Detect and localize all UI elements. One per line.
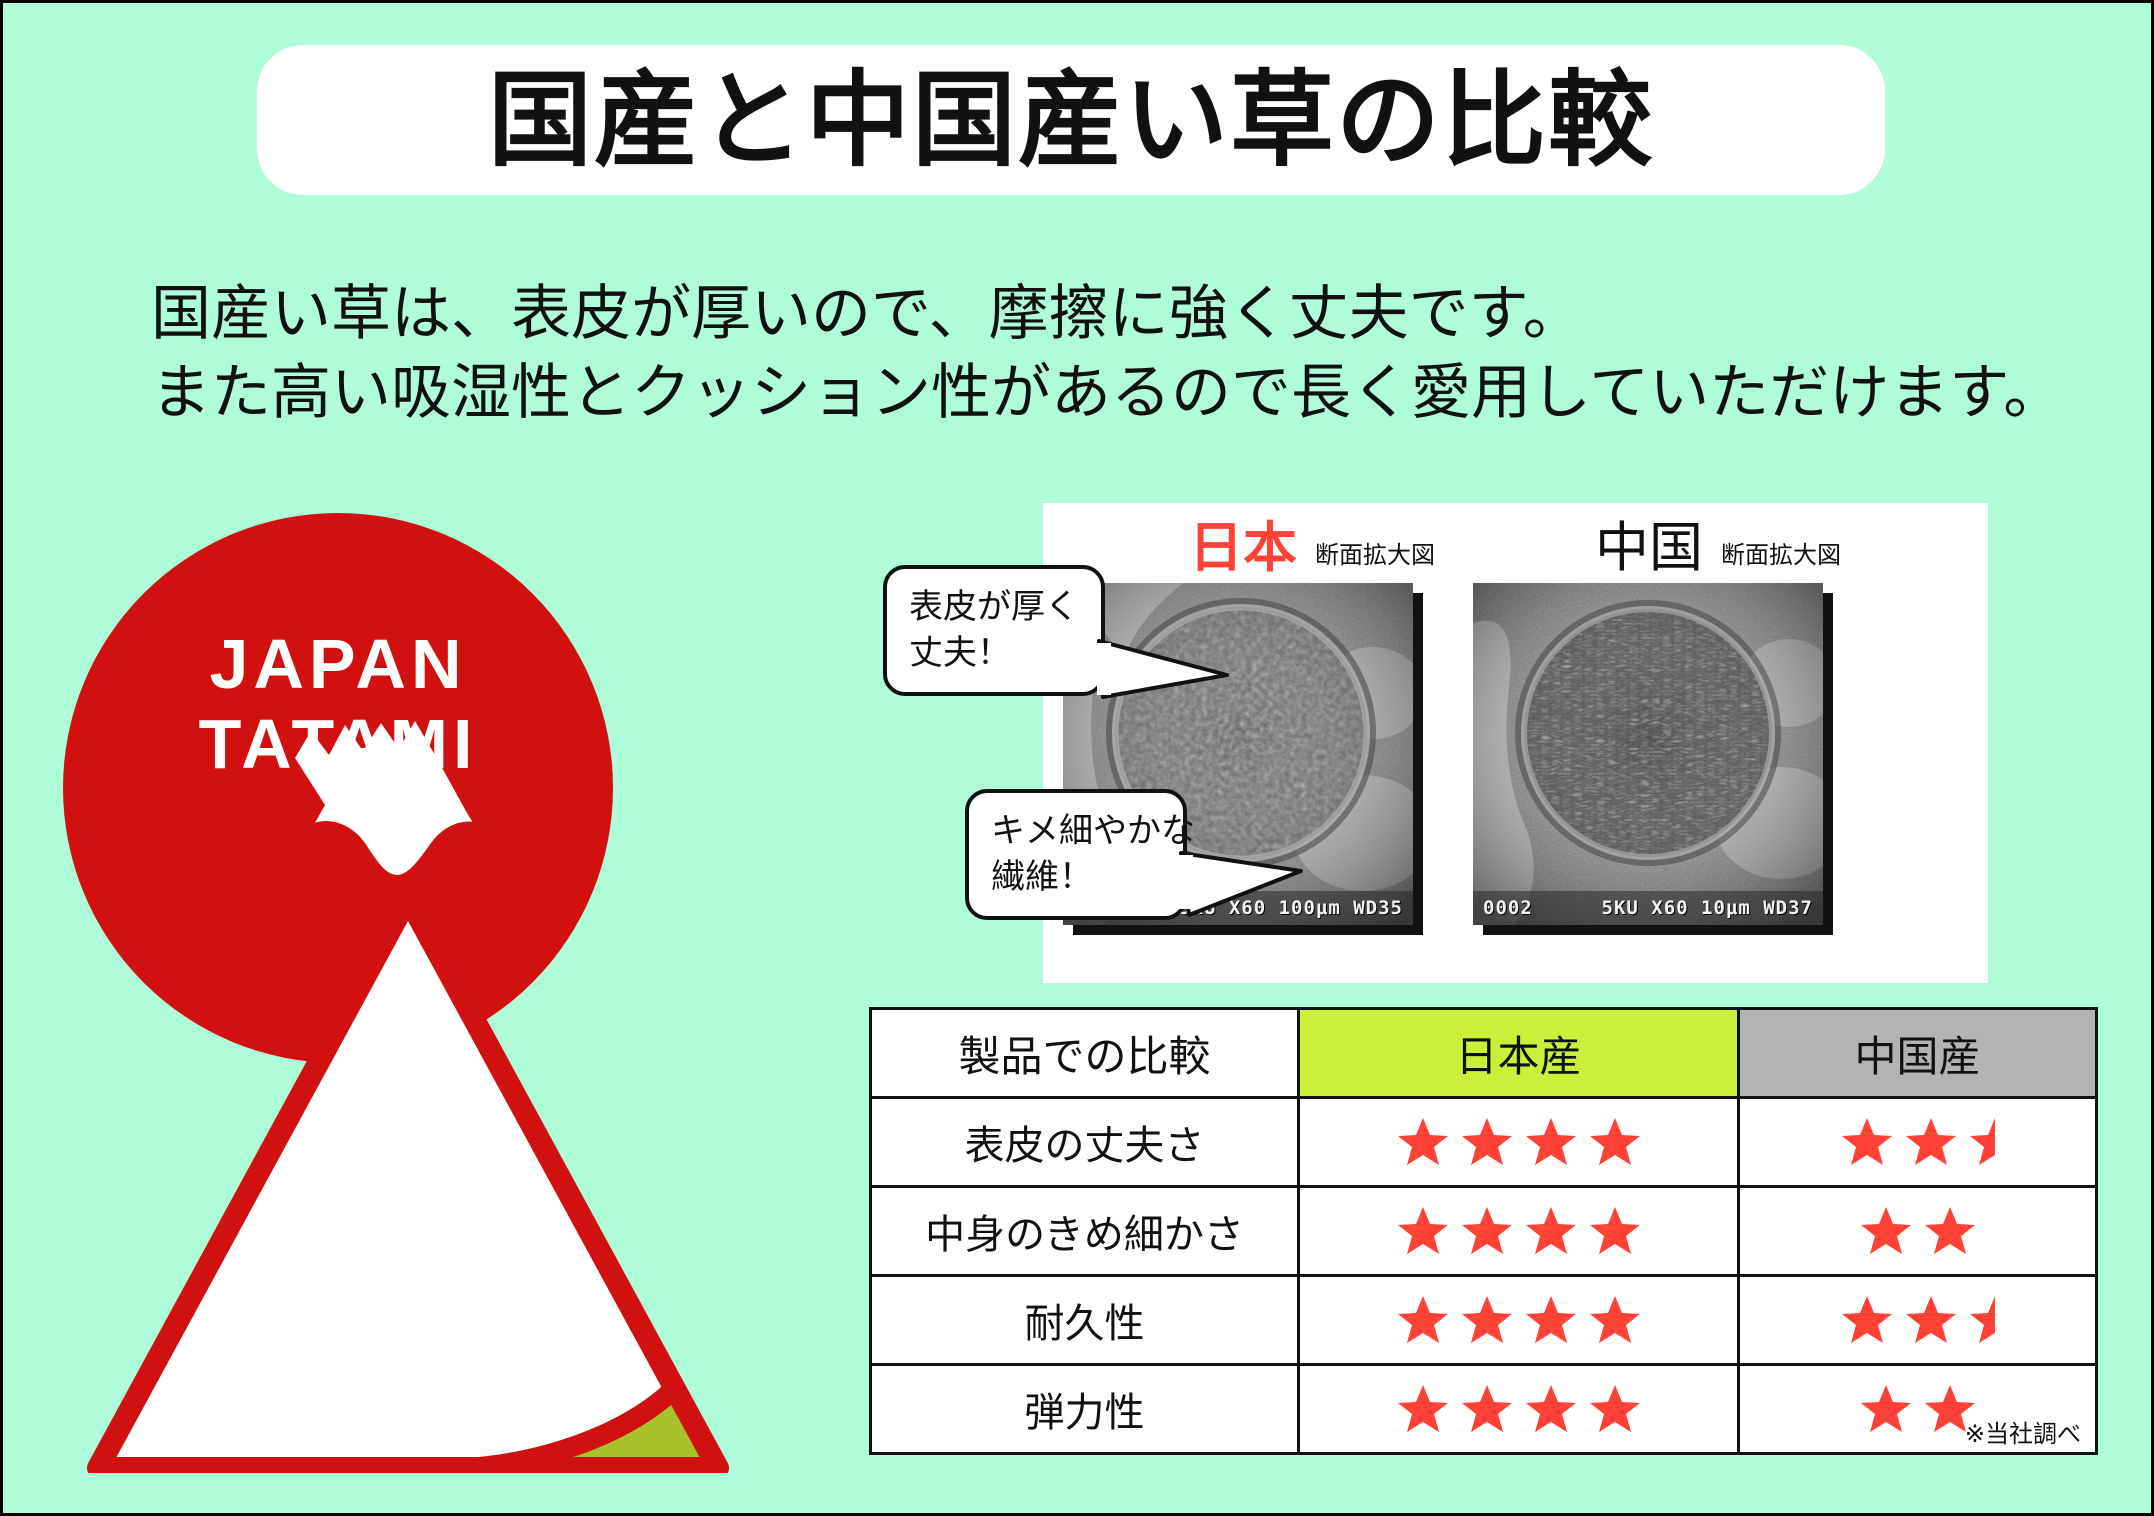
row-label-cell: 中身のきめ細かさ (871, 1187, 1299, 1276)
star-full-icon (1588, 1204, 1642, 1258)
star-full-icon (1396, 1115, 1450, 1169)
row-label-text: 耐久性 (1025, 1301, 1145, 1347)
japan-country-label: 日本 (1189, 521, 1297, 575)
star-full-icon (1859, 1382, 1913, 1436)
table-row: 耐久性 (871, 1276, 2097, 1365)
callout-fiber-tail (1179, 849, 1309, 921)
star-full-icon (1840, 1293, 1894, 1347)
row-label-text: 中身のきめ細かさ (925, 1212, 1244, 1258)
row-label-text: 弾力性 (1025, 1390, 1145, 1436)
china-sem-parameters: 5KU X60 10μm WD37 (1602, 897, 1813, 919)
star-full-icon (1904, 1115, 1958, 1169)
star-full-icon (1588, 1115, 1642, 1169)
row-japan-rating-cell (1299, 1187, 1739, 1276)
header-cell-criteria: 製品での比較 (871, 1009, 1299, 1098)
comparison-table: 製品での比較 日本産 中国産 表皮の丈夫さ中身のきめ細かさ耐久性弾力性 (869, 1007, 2098, 1455)
star-full-icon (1460, 1115, 1514, 1169)
title-plaque: 国産と中国産い草の比較 (257, 45, 1885, 195)
star-half-icon (1968, 1293, 1995, 1347)
infographic-poster: 国産と中国産い草の比較 国産い草は、表皮が厚いので、摩擦に強く丈夫です。 また高… (0, 0, 2154, 1516)
row-label-cell: 耐久性 (871, 1276, 1299, 1365)
row-china-rating-cell (1739, 1187, 2097, 1276)
star-rating (1740, 1277, 2095, 1363)
china-sem-micrograph: 0002 5KU X60 10μm WD37 (1473, 583, 1823, 925)
star-full-icon (1923, 1204, 1977, 1258)
callout-fiber: キメ細やかな 繊維！ (965, 789, 1187, 920)
star-full-icon (1396, 1204, 1450, 1258)
row-china-rating-cell (1739, 1276, 2097, 1365)
callout-epidermis-line-1: 表皮が厚く (909, 585, 1079, 631)
row-japan-rating-cell (1299, 1098, 1739, 1187)
callout-epidermis-tail (1097, 639, 1237, 709)
row-japan-rating-cell (1299, 1365, 1739, 1454)
row-japan-rating-cell (1299, 1276, 1739, 1365)
header-cell-japan: 日本産 (1299, 1009, 1739, 1098)
star-full-icon (1460, 1293, 1514, 1347)
table-header-row: 製品での比較 日本産 中国産 (871, 1009, 2097, 1098)
star-full-icon (1460, 1204, 1514, 1258)
lead-line-2: また高い吸湿性とクッション性があるので長く愛用していただけます。 (151, 354, 2111, 433)
callout-fiber-line-2: 繊維！ (991, 855, 1161, 901)
star-full-icon (1460, 1382, 1514, 1436)
star-full-icon (1588, 1293, 1642, 1347)
star-full-icon (1524, 1382, 1578, 1436)
star-full-icon (1840, 1115, 1894, 1169)
star-rating (1300, 1099, 1737, 1185)
row-label-cell: 弾力性 (871, 1365, 1299, 1454)
japan-photo-header: 日本 断面拡大図 (1189, 513, 1435, 575)
header-china-label: 中国産 (1854, 1032, 1980, 1081)
japan-tatami-emblem: JAPAN TATAMI (63, 493, 823, 1473)
header-japan-label: 日本産 (1455, 1032, 1581, 1081)
table-row: 表皮の丈夫さ (871, 1098, 2097, 1187)
row-label-cell: 表皮の丈夫さ (871, 1098, 1299, 1187)
china-cross-section-caption: 断面拡大図 (1721, 535, 1841, 575)
callout-fiber-line-1: キメ細やかな (991, 809, 1161, 855)
star-full-icon (1396, 1293, 1450, 1347)
header-cell-china: 中国産 (1739, 1009, 2097, 1098)
china-sem-data-strip: 0002 5KU X60 10μm WD37 (1473, 891, 1823, 925)
star-rating (1740, 1099, 2095, 1185)
callout-epidermis: 表皮が厚く 丈夫！ (883, 565, 1105, 696)
china-sem-frame-number: 0002 (1483, 897, 1533, 919)
mount-fuji-illustration (63, 493, 823, 1473)
star-full-icon (1524, 1204, 1578, 1258)
star-full-icon (1859, 1204, 1913, 1258)
callout-epidermis-line-2: 丈夫！ (909, 631, 1079, 677)
china-photo-header: 中国 断面拡大図 (1595, 513, 1841, 575)
star-full-icon (1524, 1293, 1578, 1347)
star-rating (1300, 1277, 1737, 1363)
star-full-icon (1588, 1382, 1642, 1436)
header-criteria-label: 製品での比較 (958, 1032, 1210, 1081)
star-full-icon (1524, 1115, 1578, 1169)
japan-cross-section-caption: 断面拡大図 (1315, 535, 1435, 575)
table-body: 表皮の丈夫さ中身のきめ細かさ耐久性弾力性 (871, 1098, 2097, 1454)
china-country-label: 中国 (1595, 521, 1703, 575)
star-full-icon (1396, 1382, 1450, 1436)
table-row: 弾力性 (871, 1365, 2097, 1454)
comparison-table-wrap: 製品での比較 日本産 中国産 表皮の丈夫さ中身のきめ細かさ耐久性弾力性 ※当社調… (869, 1007, 2095, 1455)
star-half-icon (1968, 1115, 1995, 1169)
lead-line-1: 国産い草は、表皮が厚いので、摩擦に強く丈夫です。 (151, 275, 2111, 354)
star-rating (1740, 1188, 2095, 1274)
row-label-text: 表皮の丈夫さ (965, 1123, 1205, 1169)
table-footnote: ※当社調べ (1965, 1414, 2081, 1449)
star-rating (1300, 1366, 1737, 1452)
lead-paragraph: 国産い草は、表皮が厚いので、摩擦に強く丈夫です。 また高い吸湿性とクッション性が… (151, 275, 2111, 433)
page-title: 国産と中国産い草の比較 (488, 68, 1654, 172)
china-sem-image (1473, 583, 1823, 925)
table-row: 中身のきめ細かさ (871, 1187, 2097, 1276)
star-full-icon (1904, 1293, 1958, 1347)
row-china-rating-cell (1739, 1098, 2097, 1187)
star-rating (1300, 1188, 1737, 1274)
